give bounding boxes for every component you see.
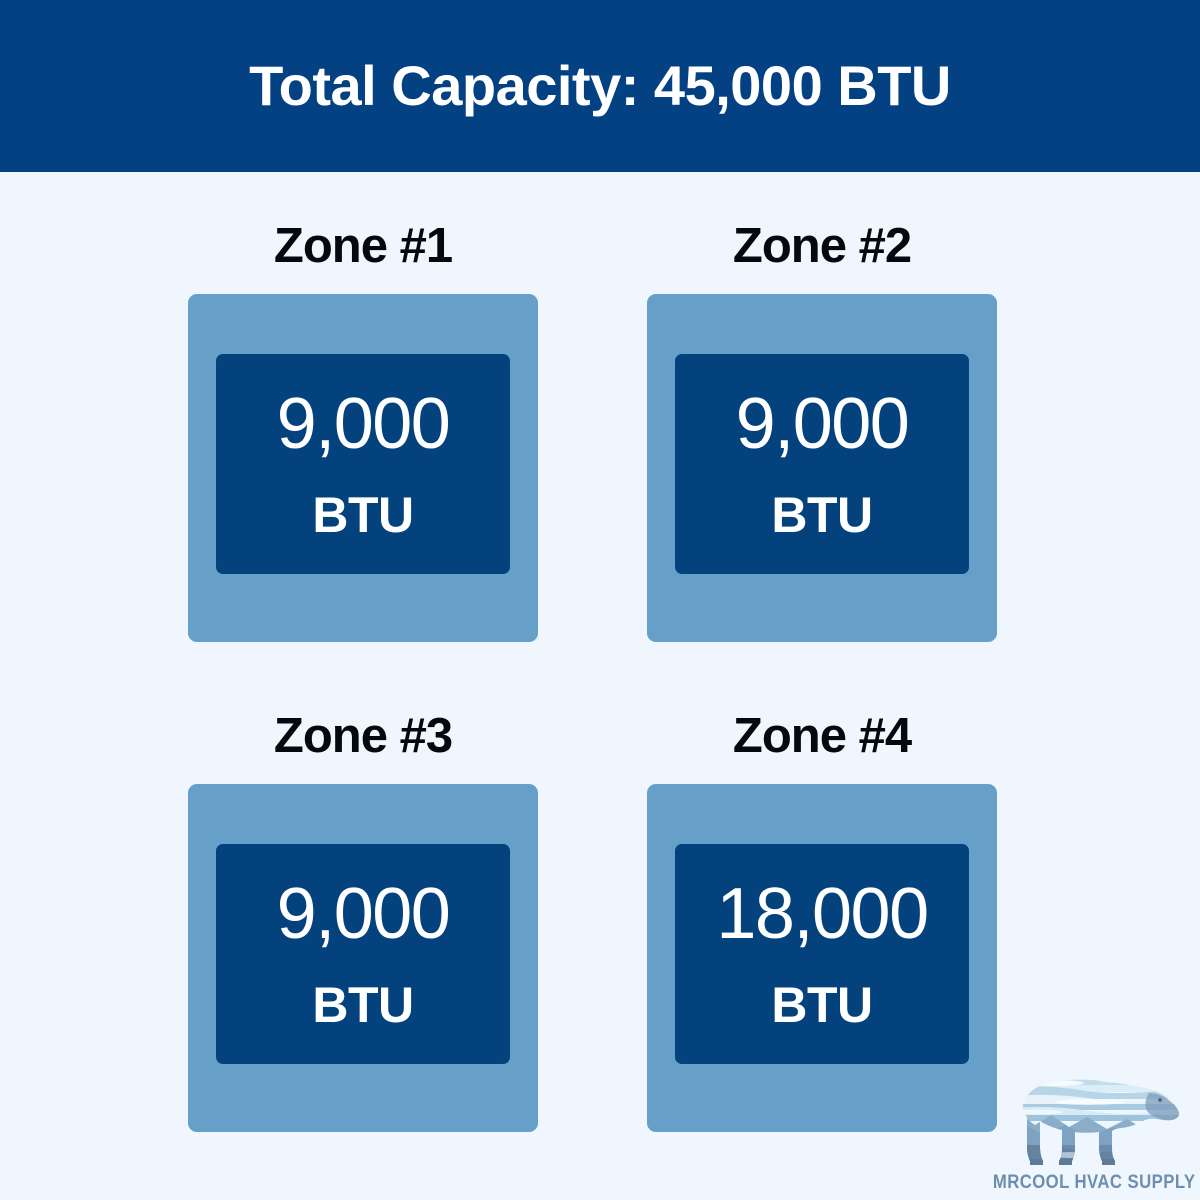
zone-card-3: 9,000 BTU bbox=[188, 784, 538, 1132]
zone-card-2: 9,000 BTU bbox=[647, 294, 997, 642]
zone-cell-4: Zone #4 18,000 BTU bbox=[647, 707, 997, 1132]
zone-capacity-box-3: 9,000 BTU bbox=[216, 844, 510, 1064]
zone-value-4: 18,000 bbox=[716, 878, 927, 950]
zone-unit-4: BTU bbox=[771, 980, 872, 1030]
zone-label-2: Zone #2 bbox=[647, 217, 997, 275]
zone-capacity-box-4: 18,000 BTU bbox=[675, 844, 969, 1064]
zone-value-1: 9,000 bbox=[277, 388, 450, 460]
header-banner: Total Capacity: 45,000 BTU bbox=[0, 0, 1200, 172]
zone-cell-3: Zone #3 9,000 BTU bbox=[188, 707, 538, 1132]
polar-bear-icon bbox=[999, 1059, 1189, 1171]
zone-card-4: 18,000 BTU bbox=[647, 784, 997, 1132]
zone-value-2: 9,000 bbox=[736, 388, 909, 460]
zone-unit-1: BTU bbox=[312, 490, 413, 540]
zone-cell-1: Zone #1 9,000 BTU bbox=[188, 217, 538, 642]
brand-wordmark: MRCOOL HVAC SUPPLY bbox=[993, 1173, 1196, 1192]
zone-card-1: 9,000 BTU bbox=[188, 294, 538, 642]
zone-value-3: 9,000 bbox=[277, 878, 450, 950]
zone-unit-3: BTU bbox=[312, 980, 413, 1030]
zone-unit-2: BTU bbox=[771, 490, 872, 540]
zone-label-1: Zone #1 bbox=[188, 217, 538, 275]
zone-capacity-box-2: 9,000 BTU bbox=[675, 354, 969, 574]
zone-label-4: Zone #4 bbox=[647, 707, 997, 765]
zone-cell-2: Zone #2 9,000 BTU bbox=[647, 217, 997, 642]
page-title: Total Capacity: 45,000 BTU bbox=[249, 58, 951, 114]
brand-logo: MRCOOL HVAC SUPPLY bbox=[994, 1042, 1194, 1192]
zone-capacity-box-1: 9,000 BTU bbox=[216, 354, 510, 574]
zone-label-3: Zone #3 bbox=[188, 707, 538, 765]
